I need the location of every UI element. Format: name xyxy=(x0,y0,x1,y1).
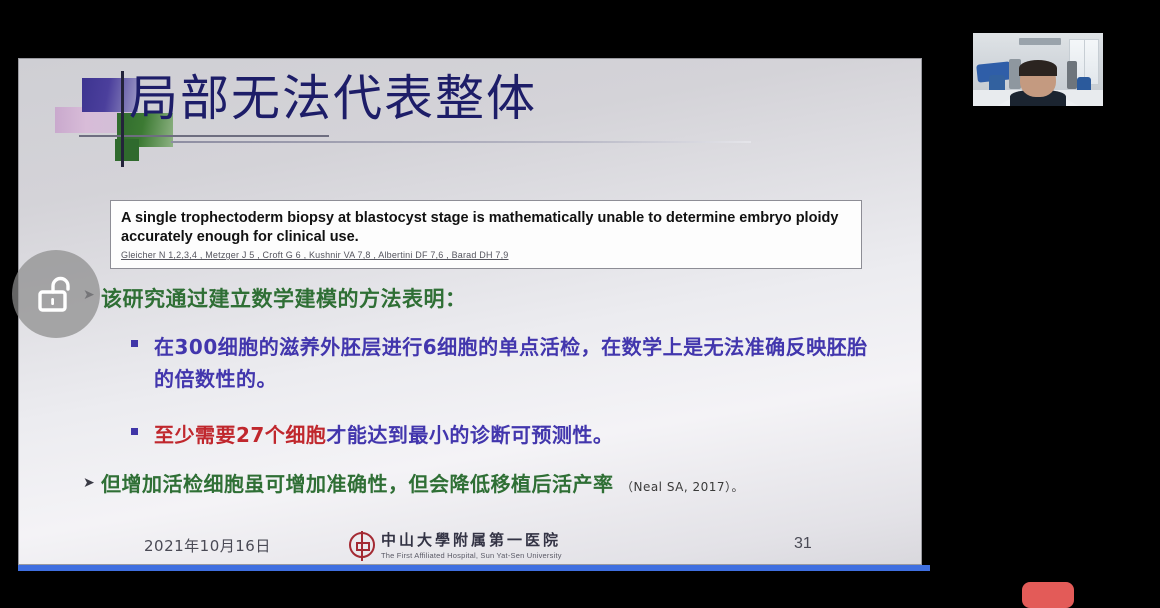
bullet-2-rest: 才能达到最小的诊断可预测性。 xyxy=(326,423,613,447)
slide-page-number: 31 xyxy=(794,535,812,553)
decorative-block-green-small xyxy=(115,139,139,161)
footer-date: 2021年10月16日 xyxy=(144,535,271,556)
decorative-rule-vertical xyxy=(121,71,124,167)
square-bullet-icon-1 xyxy=(131,340,138,347)
webcam-wall-vent xyxy=(1019,38,1061,45)
title-underline xyxy=(171,141,751,143)
abstract-callout-box: A single trophectoderm biopsy at blastoc… xyxy=(110,200,862,269)
presentation-slide[interactable]: 局部无法代表整体 A single trophectoderm biopsy a… xyxy=(18,58,922,565)
institution-logo: 中山大學附属第一医院 The First Affiliated Hospital… xyxy=(349,529,562,560)
decorative-rule-horizontal xyxy=(79,135,329,137)
slide-title: 局部无法代表整体 xyxy=(129,73,537,124)
unlock-icon[interactable] xyxy=(12,250,100,338)
closing-statement: 但增加活检细胞虽可增加准确性，但会降低移植后活产率 （Neal SA, 2017… xyxy=(101,469,891,499)
presenter-video-thumbnail[interactable] xyxy=(973,33,1103,106)
slide-progress-bar[interactable] xyxy=(18,565,930,571)
end-meeting-button[interactable] xyxy=(1022,582,1074,608)
institution-name-cn: 中山大學附属第一医院 xyxy=(381,529,562,550)
abstract-author-list: Gleicher N 1,2,3,4 , Metzger J 5 , Croft… xyxy=(121,250,851,261)
arrow-marker-icon-2: ➤ xyxy=(83,476,95,490)
video-conference-stage: 局部无法代表整体 A single trophectoderm biopsy a… xyxy=(0,0,1160,599)
abstract-title-text: A single trophectoderm biopsy at blastoc… xyxy=(121,209,851,247)
bullet-item-1: 在300细胞的滋养外胚层进行6细胞的单点活检，在数学上是无法准确反映胚胎的倍数性… xyxy=(154,331,869,396)
lead-statement: 该研究通过建立数学建模的方法表明： xyxy=(101,283,467,313)
webcam-equipment-2 xyxy=(1067,61,1077,89)
closing-citation: （Neal SA, 2017）。 xyxy=(621,480,744,494)
university-seal-icon xyxy=(349,532,375,558)
bullet-2-highlight: 至少需要27个细胞 xyxy=(154,423,326,447)
closing-statement-text: 但增加活检细胞虽可增加准确性，但会降低移植后活产率 xyxy=(101,472,614,496)
webcam-person-hair xyxy=(1019,60,1057,76)
institution-name-en: The First Affiliated Hospital, Sun Yat-S… xyxy=(381,551,562,560)
square-bullet-icon-2 xyxy=(131,428,138,435)
bullet-item-2: 至少需要27个细胞才能达到最小的诊断可预测性。 xyxy=(154,419,869,451)
